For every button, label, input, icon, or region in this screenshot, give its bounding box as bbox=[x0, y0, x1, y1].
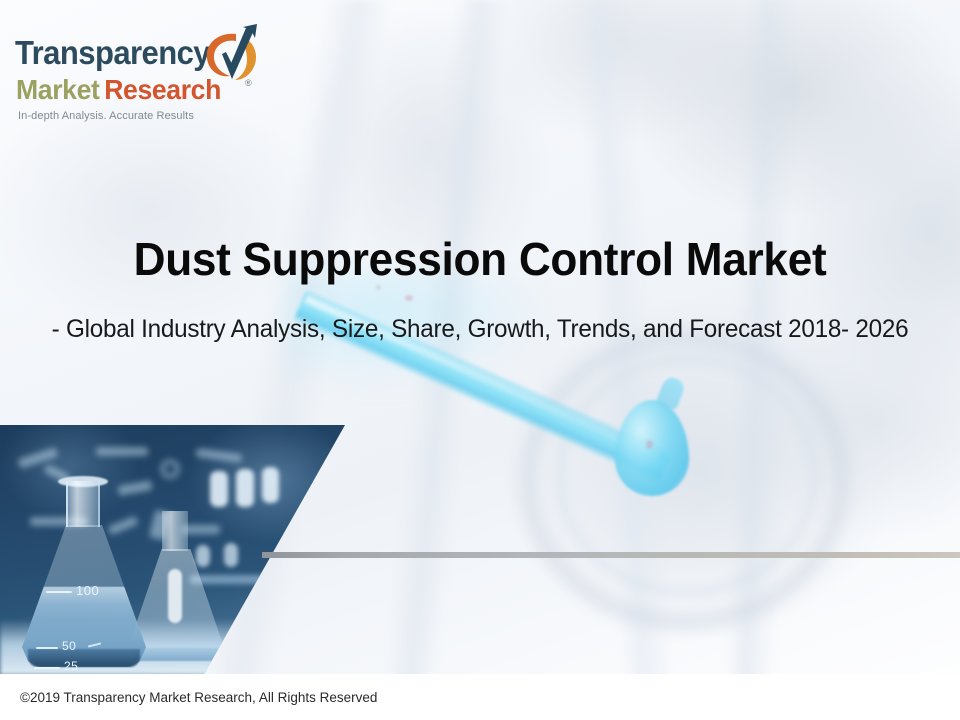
test-tube-icon bbox=[224, 543, 238, 567]
checkmark-arrow-swoosh-icon bbox=[202, 24, 264, 98]
graduation-mark bbox=[36, 647, 58, 649]
pipette-speck bbox=[646, 440, 653, 449]
copyright-notice: ©2019 Transparency Market Research, All … bbox=[20, 690, 377, 705]
test-tube-icon bbox=[262, 467, 279, 503]
flask-highlight bbox=[168, 569, 182, 623]
graduation-label-50: 50 bbox=[62, 639, 76, 653]
test-tube-icon bbox=[210, 471, 228, 507]
chalkboard-scribble bbox=[160, 459, 180, 479]
graduation-mark bbox=[46, 591, 72, 593]
graduation-label-25: 25 bbox=[64, 659, 78, 673]
graduation-label-100: 100 bbox=[76, 583, 99, 598]
presentation-slide: 100 50 25 Transparency MarketResearch In… bbox=[0, 0, 960, 720]
test-tube-icon bbox=[236, 469, 254, 507]
company-logo[interactable]: Transparency MarketResearch In-depth Ana… bbox=[10, 22, 260, 130]
flask-neck bbox=[66, 481, 100, 527]
logo-line-market-research: MarketResearch bbox=[16, 76, 221, 104]
page-title: Dust Suppression Control Market bbox=[19, 232, 941, 286]
registered-trademark-symbol: ® bbox=[245, 78, 252, 88]
chalkboard-scribble bbox=[96, 447, 148, 456]
flask-neck bbox=[162, 511, 188, 551]
horizontal-divider bbox=[262, 552, 960, 558]
graduation-mark bbox=[34, 667, 60, 669]
page-subtitle: - Global Industry Analysis, Size, Share,… bbox=[14, 315, 945, 344]
logo-word-market: Market bbox=[16, 74, 99, 105]
logo-word-transparency: Transparency bbox=[15, 36, 210, 69]
flask-base bbox=[28, 649, 140, 667]
pipette-speck bbox=[405, 295, 413, 301]
logo-tagline: In-depth Analysis. Accurate Results bbox=[18, 110, 194, 122]
erlenmeyer-flask-icon: 100 50 25 bbox=[22, 481, 146, 667]
